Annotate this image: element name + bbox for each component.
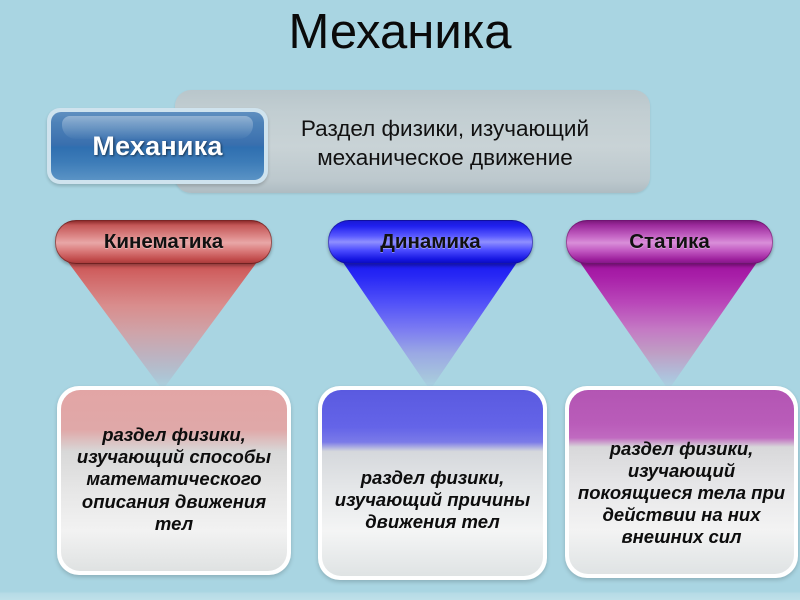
branch-description-text: раздел физики, изучающий покоящиеся тела…: [569, 416, 794, 549]
branch-description-card-kinematics: раздел физики, изучающий способы математ…: [57, 386, 291, 575]
branch-description-card-dynamics: раздел физики, изучающий причины движени…: [318, 386, 547, 580]
branch-dynamics: Динамика раздел физики, изучающий причин…: [300, 0, 550, 600]
branch-pill-label: Динамика: [380, 230, 480, 254]
branch-description-card-statics: раздел физики, изучающий покоящиеся тела…: [565, 386, 798, 578]
branch-pill-label: Статика: [629, 230, 710, 254]
slide-canvas: Механика Раздел физики, изучающий механи…: [0, 0, 800, 600]
branch-pill-kinematics[interactable]: Кинематика: [55, 220, 272, 264]
branch-description-surface: раздел физики, изучающий способы математ…: [61, 390, 287, 571]
root-node-label: Механика: [92, 131, 222, 162]
branch-description-text: раздел физики, изучающий причины движени…: [322, 433, 543, 534]
branch-description-surface: раздел физики, изучающий причины движени…: [322, 390, 543, 576]
branch-description-surface: раздел физики, изучающий покоящиеся тела…: [569, 390, 794, 574]
branch-statics: Статика раздел физики, изучающий покоящи…: [545, 0, 800, 600]
funnel-arrow-kinematics: [65, 258, 260, 390]
branch-kinematics: Кинематика раздел физики, изучающий спос…: [0, 0, 330, 600]
branch-description-text: раздел физики, изучающий способы математ…: [61, 424, 287, 537]
funnel-arrow-statics: [577, 258, 760, 390]
bottom-edge-strip: [0, 588, 800, 600]
branch-pill-dynamics[interactable]: Динамика: [328, 220, 533, 264]
branch-pill-label: Кинематика: [104, 230, 223, 254]
funnel-arrow-dynamics: [340, 258, 520, 390]
branch-pill-statics[interactable]: Статика: [566, 220, 773, 264]
